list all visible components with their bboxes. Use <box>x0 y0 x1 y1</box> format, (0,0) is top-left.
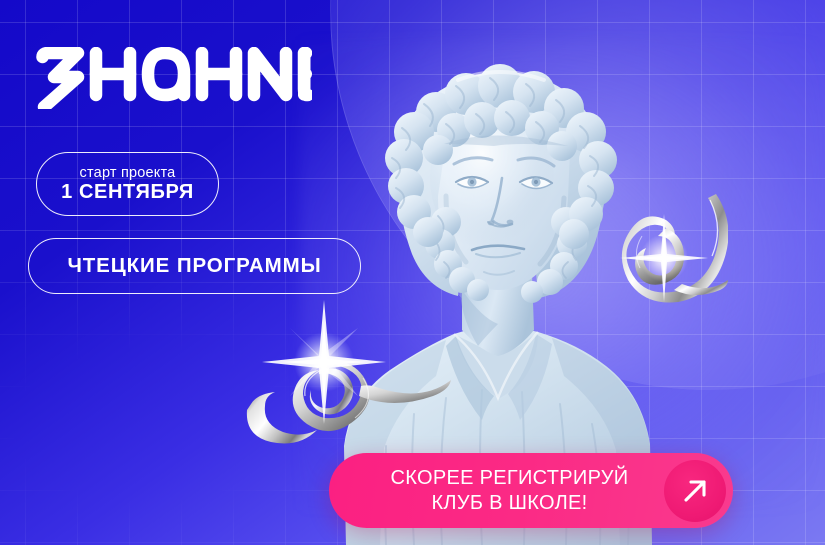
register-club-cta-button[interactable]: СКОРЕЕ РЕГИСТРИРУЙ КЛУБ В ШКОЛЕ! <box>329 453 733 528</box>
promo-banner: старт проекта 1 СЕНТЯБРЯ ЧТЕЦКИЕ ПРОГРАМ… <box>0 0 825 545</box>
programs-badge[interactable]: ЧТЕЦКИЕ ПРОГРАММЫ <box>28 238 361 294</box>
start-date-badge[interactable]: старт проекта 1 СЕНТЯБРЯ <box>36 152 219 216</box>
start-date-subtitle: старт проекта <box>80 166 176 181</box>
cta-line-1: СКОРЕЕ РЕГИСТРИРУЙ <box>355 466 664 490</box>
cta-line-2: КЛУБ В ШКОЛЕ! <box>355 491 664 515</box>
cta-text: СКОРЕЕ РЕГИСТРИРУЙ КЛУБ В ШКОЛЕ! <box>329 466 664 515</box>
arrow-up-right-icon[interactable] <box>664 460 726 522</box>
znanie-logo[interactable] <box>36 47 312 109</box>
programs-badge-label: ЧТЕЦКИЕ ПРОГРАММЫ <box>67 256 321 277</box>
start-date-title: 1 СЕНТЯБРЯ <box>61 182 194 202</box>
